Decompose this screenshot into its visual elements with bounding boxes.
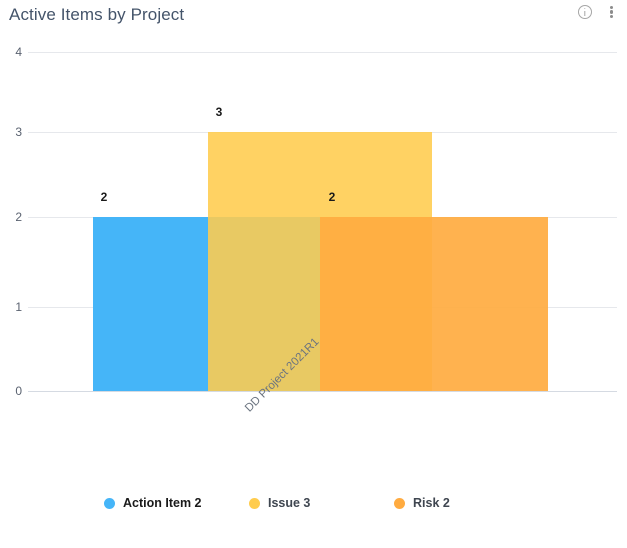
legend-item-risk[interactable]: Risk 2 xyxy=(394,494,450,512)
y-axis-tick-4: 4 xyxy=(0,46,22,58)
legend-swatch-action-item xyxy=(104,498,115,509)
chart-legend: Action Item 2 Issue 3 Risk 2 xyxy=(0,494,627,518)
legend-label-issue: Issue 3 xyxy=(268,496,310,510)
gridline-0 xyxy=(28,391,617,392)
legend-swatch-issue xyxy=(249,498,260,509)
y-axis-tick-1: 1 xyxy=(0,301,22,313)
chart-widget: Active Items by Project 4 3 2 1 0 2 3 2 xyxy=(0,0,627,548)
bar-risk[interactable] xyxy=(320,217,548,391)
y-axis-tick-2: 2 xyxy=(0,211,22,223)
y-axis-tick-3: 3 xyxy=(0,126,22,138)
plot-area: 4 3 2 1 0 2 3 2 DD Project 2021R1 xyxy=(0,0,627,548)
data-label-issue: 3 xyxy=(199,106,239,118)
data-label-risk: 2 xyxy=(312,191,352,203)
y-axis-tick-0: 0 xyxy=(0,385,22,397)
legend-swatch-risk xyxy=(394,498,405,509)
legend-label-action-item: Action Item 2 xyxy=(123,496,202,510)
gridline-4 xyxy=(28,52,617,53)
legend-item-issue[interactable]: Issue 3 xyxy=(249,494,310,512)
legend-label-risk: Risk 2 xyxy=(413,496,450,510)
legend-item-action-item[interactable]: Action Item 2 xyxy=(104,494,202,512)
data-label-action-item: 2 xyxy=(84,191,124,203)
